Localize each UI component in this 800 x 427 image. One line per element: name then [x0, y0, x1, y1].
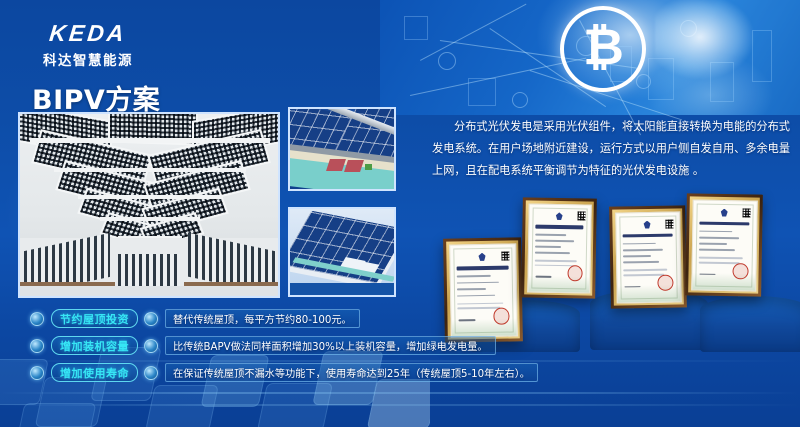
feature-label: 增加装机容量 — [51, 336, 138, 355]
hand-touch-graphic — [655, 0, 800, 112]
background-streak — [0, 404, 800, 406]
feature-row[interactable]: 增加使用寿命 在保证传统屋顶不漏水等功能下，使用寿命达到25年（传统屋顶5-10… — [30, 362, 450, 383]
feature-description: 替代传统屋顶，每平方节约80-100元。 — [165, 309, 360, 328]
globe-bullet-icon — [144, 366, 158, 380]
feature-description: 在保证传统屋顶不漏水等功能下，使用寿命达到25年（传统屋顶5-10年左右）。 — [165, 363, 538, 382]
globe-bullet-icon — [30, 312, 44, 326]
brand-logo[interactable]: KEDA 科达智慧能源 — [26, 22, 150, 69]
patent-certificate-1[interactable] — [443, 237, 523, 342]
patent-certificate-2[interactable] — [521, 197, 597, 298]
certificate-paper — [615, 211, 682, 303]
certificate-frame — [612, 208, 684, 305]
certificate-frame — [446, 240, 520, 339]
solar-panel-roof-array-render[interactable] — [288, 207, 396, 297]
feature-description: 比传统BAPV做法同样面积增加30%以上装机容量，增加绿电发电量。 — [165, 336, 496, 355]
feature-list: 节约屋顶投资 替代传统屋顶，每平方节约80-100元。 增加装机容量 比传统BA… — [30, 308, 450, 389]
background-streak — [0, 392, 800, 394]
globe-bullet-icon — [144, 312, 158, 326]
feature-row[interactable]: 增加装机容量 比传统BAPV做法同样面积增加30%以上装机容量，增加绿电发电量。 — [30, 335, 450, 356]
patent-certificate-3[interactable] — [609, 205, 687, 308]
logo-mark-text: KEDA — [25, 22, 151, 45]
slide-canvas: ₿ KEDA 科达智慧能源 BIPV方案 分布式光伏发电是采用光伏组件，将太阳能… — [0, 0, 800, 427]
certificate-frame — [688, 196, 760, 293]
bitcoin-glyph: ₿ — [583, 22, 623, 72]
pedestal — [700, 296, 800, 352]
patent-certificate-4[interactable] — [685, 193, 763, 296]
bipv-atrium-skylight-photo[interactable] — [18, 112, 280, 298]
globe-bullet-icon — [144, 339, 158, 353]
intro-paragraph: 分布式光伏发电是采用光伏组件，将太阳能直接转换为电能的分布式发电系统。在用户场地… — [432, 116, 790, 182]
certificate-paper — [527, 203, 592, 293]
feature-label: 节约屋顶投资 — [51, 309, 138, 328]
solar-panel-mounting-detail-render[interactable] — [288, 107, 396, 191]
logo-chinese-text: 科达智慧能源 — [26, 49, 150, 69]
certificate-paper — [449, 243, 518, 337]
feature-label: 增加使用寿命 — [51, 363, 138, 382]
globe-bullet-icon — [30, 366, 44, 380]
certificate-frame — [524, 200, 594, 295]
certificate-paper — [691, 199, 758, 291]
feature-row[interactable]: 节约屋顶投资 替代传统屋顶，每平方节约80-100元。 — [30, 308, 450, 329]
atrium-illustration — [20, 114, 278, 296]
bitcoin-icon: ₿ — [560, 6, 646, 92]
globe-bullet-icon — [30, 339, 44, 353]
